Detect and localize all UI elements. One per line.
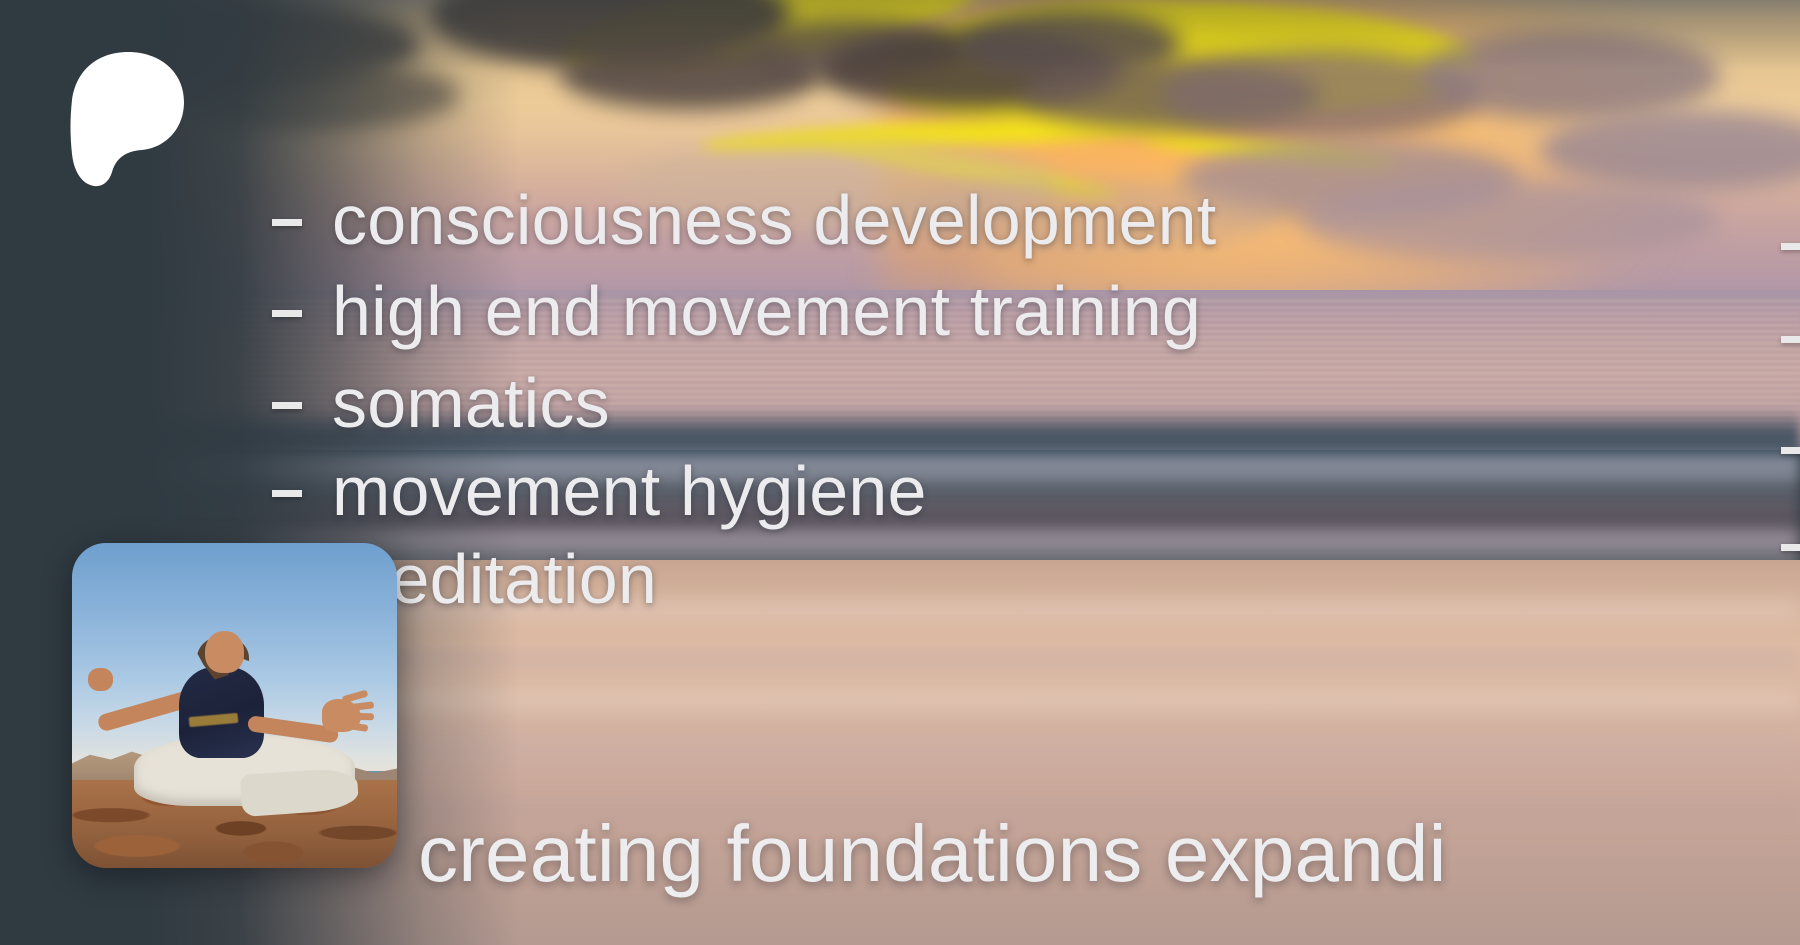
creator-avatar[interactable] — [72, 543, 397, 868]
patreon-logo[interactable] — [68, 50, 186, 188]
cloud — [880, 180, 1280, 250]
avatar-figure-finger — [345, 713, 374, 721]
avatar-figure-torso — [179, 667, 264, 758]
avatar-figure-head — [205, 631, 244, 673]
dash-bullet-icon — [1781, 447, 1800, 454]
dash-bullet-icon — [1781, 544, 1800, 551]
dash-bullet-icon — [1781, 336, 1800, 343]
cloud — [1300, 180, 1720, 260]
preview-card: consciousness development high end movem… — [0, 0, 1800, 945]
dash-bullet-icon — [1781, 243, 1800, 250]
avatar-figure-fist — [88, 668, 112, 691]
